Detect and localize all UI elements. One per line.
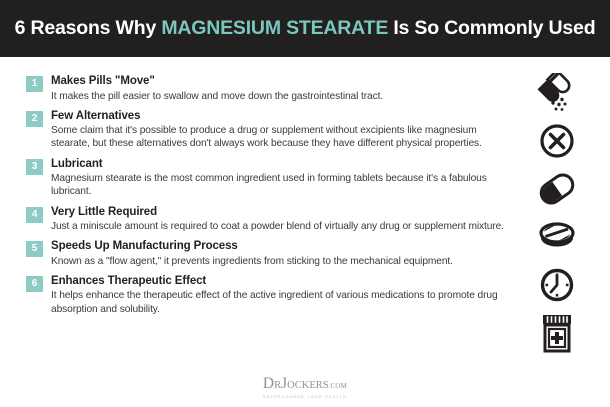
reason-number-badge: 4 <box>26 207 43 223</box>
list-item: 5 Speeds Up Manufacturing Process Known … <box>26 240 506 268</box>
reason-description: Known as a "flow agent," it prevents ing… <box>51 255 506 268</box>
reason-title: Makes Pills "Move" <box>51 75 506 89</box>
brand-ockers: OCKERS <box>287 380 328 391</box>
reason-text-block: Speeds Up Manufacturing Process Known as… <box>51 240 506 268</box>
page-title: 6 Reasons Why MAGNESIUM STEARATE Is So C… <box>15 19 596 39</box>
reason-title: Lubricant <box>51 158 506 172</box>
reason-description: It makes the pill easier to swallow and … <box>51 90 506 103</box>
reason-title: Speeds Up Manufacturing Process <box>51 240 506 254</box>
title-highlight: MAGNESIUM STEARATE <box>161 17 388 39</box>
list-item: 4 Very Little Required Just a miniscule … <box>26 206 506 234</box>
list-item: 6 Enhances Therapeutic Effect It helps e… <box>26 275 506 316</box>
brand-tagline: SUPERCHARGE YOUR HEALTH <box>263 395 347 399</box>
reason-number-badge: 3 <box>26 159 43 175</box>
brand-wordmark: DRJOCKERS.COM <box>263 376 347 394</box>
list-item: 3 Lubricant Magnesium stearate is the mo… <box>26 158 506 199</box>
reason-description: Just a miniscule amount is required to c… <box>51 220 506 233</box>
reason-number-badge: 2 <box>26 111 43 127</box>
reason-number-badge: 1 <box>26 76 43 92</box>
reason-description: It helps enhance the therapeutic effect … <box>51 289 506 315</box>
list-item: 2 Few Alternatives Some claim that it's … <box>26 110 506 151</box>
reason-title: Very Little Required <box>51 206 506 220</box>
capsule-pill-icon <box>527 165 587 213</box>
reason-text-block: Few Alternatives Some claim that it's po… <box>51 110 506 151</box>
icon-column <box>518 69 596 357</box>
infographic-poster: 6 Reasons Why MAGNESIUM STEARATE Is So C… <box>0 0 610 407</box>
reason-number-badge: 5 <box>26 241 43 257</box>
title-suffix: Is So Commonly Used <box>388 17 595 39</box>
reason-text-block: Very Little Required Just a miniscule am… <box>51 206 506 234</box>
reason-text-block: Lubricant Magnesium stearate is the most… <box>51 158 506 199</box>
brand-d: D <box>263 375 274 392</box>
brand-dotcom: .COM <box>329 382 348 390</box>
round-tablet-icon <box>527 213 587 261</box>
capsule-powder-icon <box>527 69 587 117</box>
content-area: 1 Makes Pills "Move" It makes the pill e… <box>0 57 610 407</box>
circle-x-icon <box>527 117 587 165</box>
reasons-list: 1 Makes Pills "Move" It makes the pill e… <box>26 75 506 323</box>
reason-title: Enhances Therapeutic Effect <box>51 275 506 289</box>
header-bar: 6 Reasons Why MAGNESIUM STEARATE Is So C… <box>0 0 610 57</box>
footer-logo: DRJOCKERS.COM SUPERCHARGE YOUR HEALTH <box>0 376 610 399</box>
reason-description: Magnesium stearate is the most common in… <box>51 172 506 198</box>
reason-number-badge: 6 <box>26 276 43 292</box>
clock-icon <box>527 261 587 309</box>
reason-text-block: Enhances Therapeutic Effect It helps enh… <box>51 275 506 316</box>
title-prefix: 6 Reasons Why <box>15 17 162 39</box>
list-item: 1 Makes Pills "Move" It makes the pill e… <box>26 75 506 103</box>
reason-description: Some claim that it's possible to produce… <box>51 124 506 150</box>
reason-text-block: Makes Pills "Move" It makes the pill eas… <box>51 75 506 103</box>
medicine-bottle-icon <box>527 309 587 357</box>
reason-title: Few Alternatives <box>51 110 506 124</box>
